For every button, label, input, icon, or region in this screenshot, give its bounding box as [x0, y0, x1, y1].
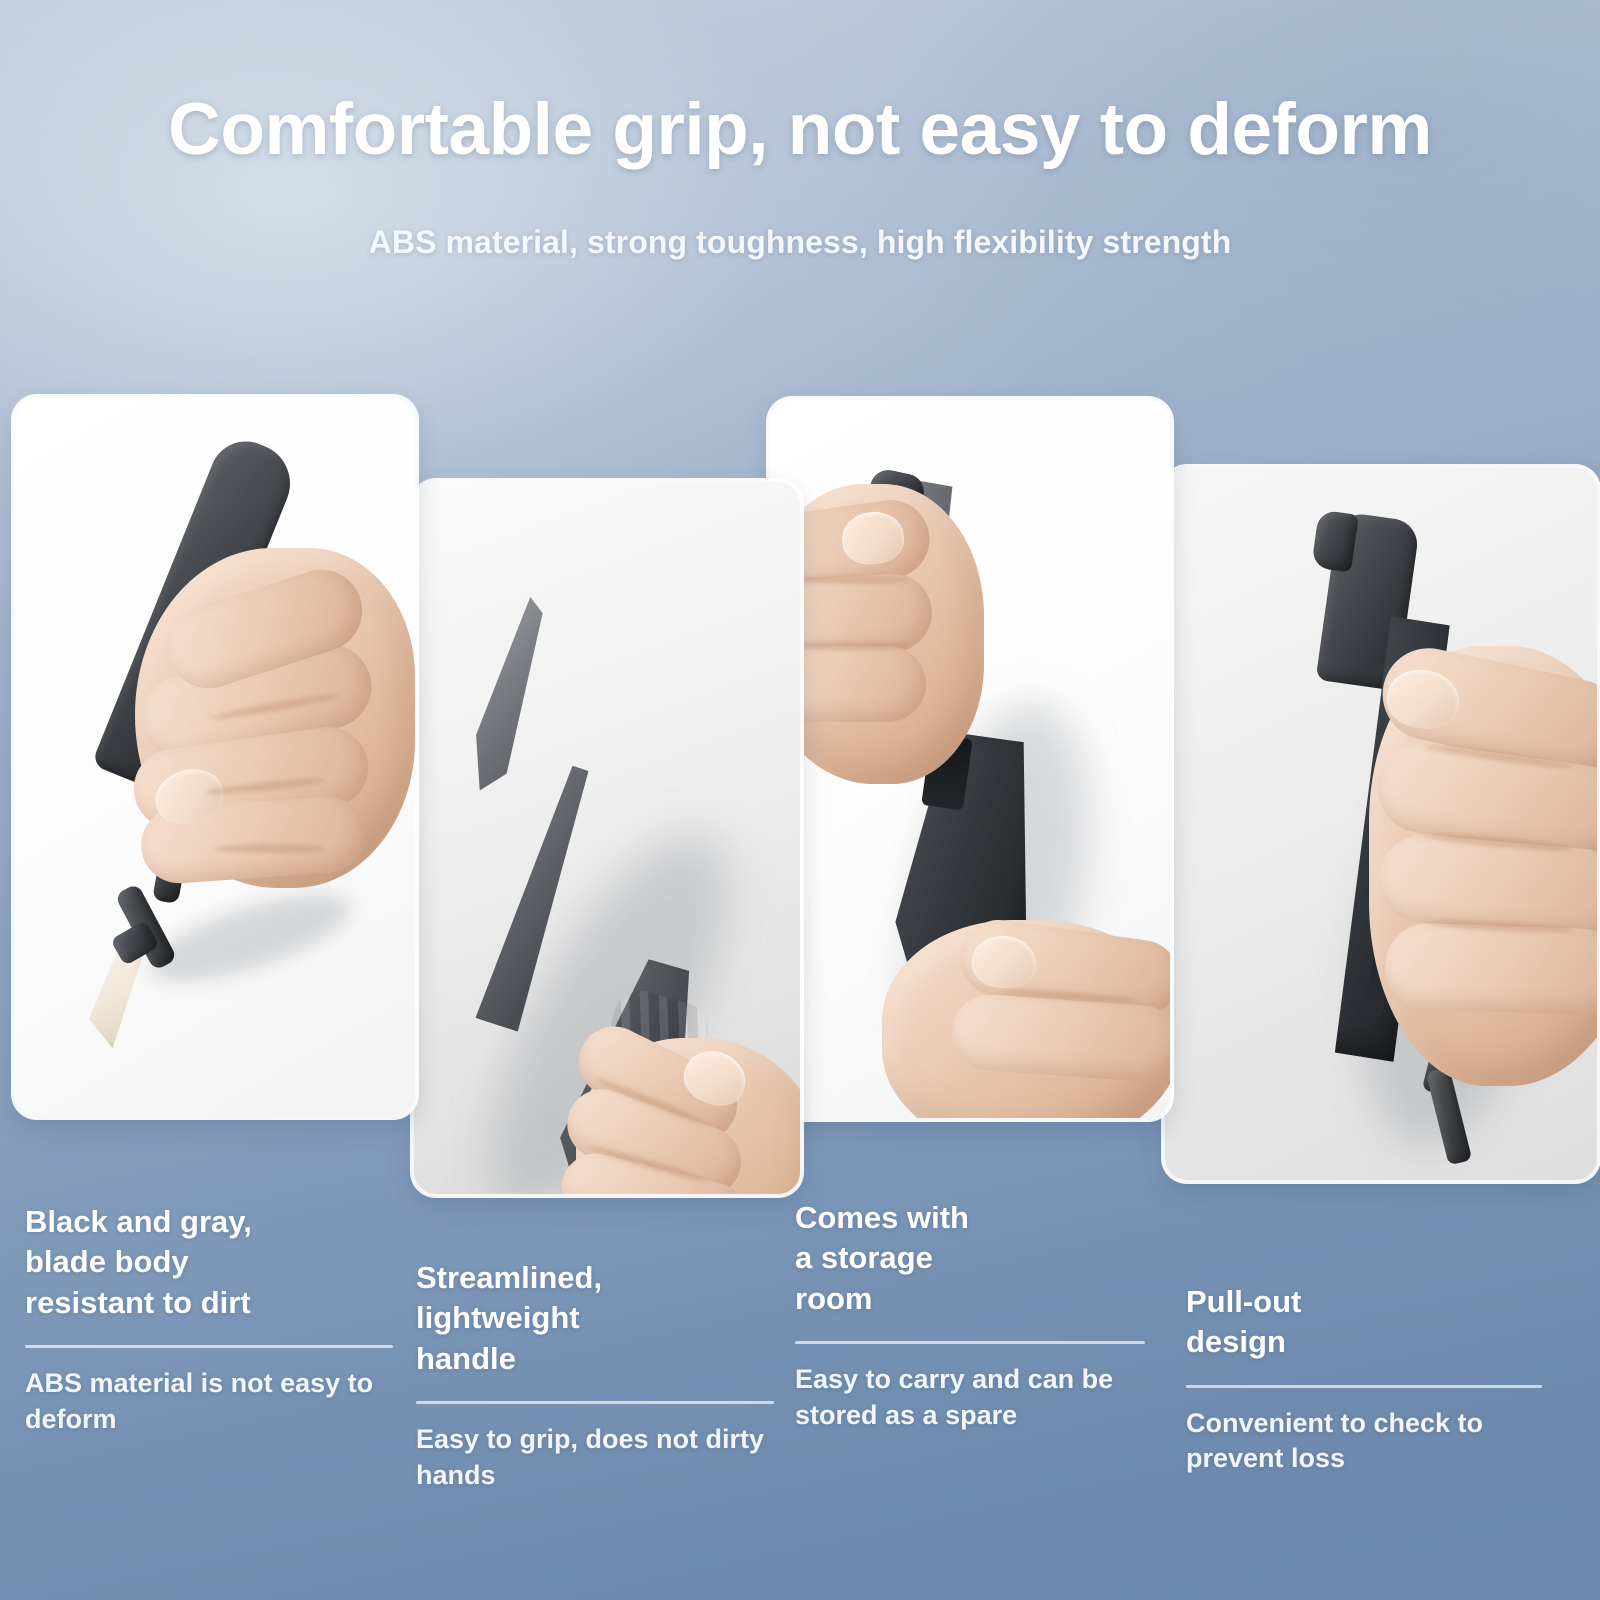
caption-title: Black and gray, blade body resistant to … [25, 1202, 397, 1323]
product-photo-2 [414, 482, 800, 1194]
product-photo-card-2[interactable] [414, 482, 800, 1194]
product-photo-card-3[interactable] [770, 400, 1170, 1118]
product-photo-1 [15, 398, 415, 1116]
header-block: Comfortable grip, not easy to deform ABS… [0, 0, 1600, 261]
caption-subtext: Convenient to check to prevent loss [1186, 1406, 1572, 1477]
caption-subtext: ABS material is not easy to deform [25, 1366, 397, 1437]
caption-divider [25, 1345, 393, 1348]
caption-subtext: Easy to carry and can be stored as a spa… [795, 1362, 1147, 1433]
caption-subtext: Easy to grip, does not dirty hands [416, 1422, 776, 1493]
product-photo-4 [1165, 468, 1597, 1180]
caption-title: Streamlined, lightweight handle [416, 1258, 776, 1379]
page-title: Comfortable grip, not easy to deform [0, 0, 1600, 166]
feature-caption-1: Black and gray, blade body resistant to … [25, 1202, 397, 1437]
feature-caption-4: Pull-out design Convenient to check to p… [1186, 1282, 1572, 1477]
caption-divider [1186, 1385, 1542, 1388]
caption-title: Pull-out design [1186, 1282, 1572, 1363]
feature-caption-3: Comes with a storage room Easy to carry … [795, 1198, 1147, 1433]
page-subtitle: ABS material, strong toughness, high fle… [0, 166, 1600, 261]
product-photo-card-1[interactable] [15, 398, 415, 1116]
caption-title: Comes with a storage room [795, 1198, 1147, 1319]
product-photo-3 [770, 400, 1170, 1118]
feature-caption-2: Streamlined, lightweight handle Easy to … [416, 1258, 776, 1493]
caption-divider [795, 1341, 1145, 1344]
product-photo-card-4[interactable] [1165, 468, 1597, 1180]
caption-divider [416, 1401, 774, 1404]
